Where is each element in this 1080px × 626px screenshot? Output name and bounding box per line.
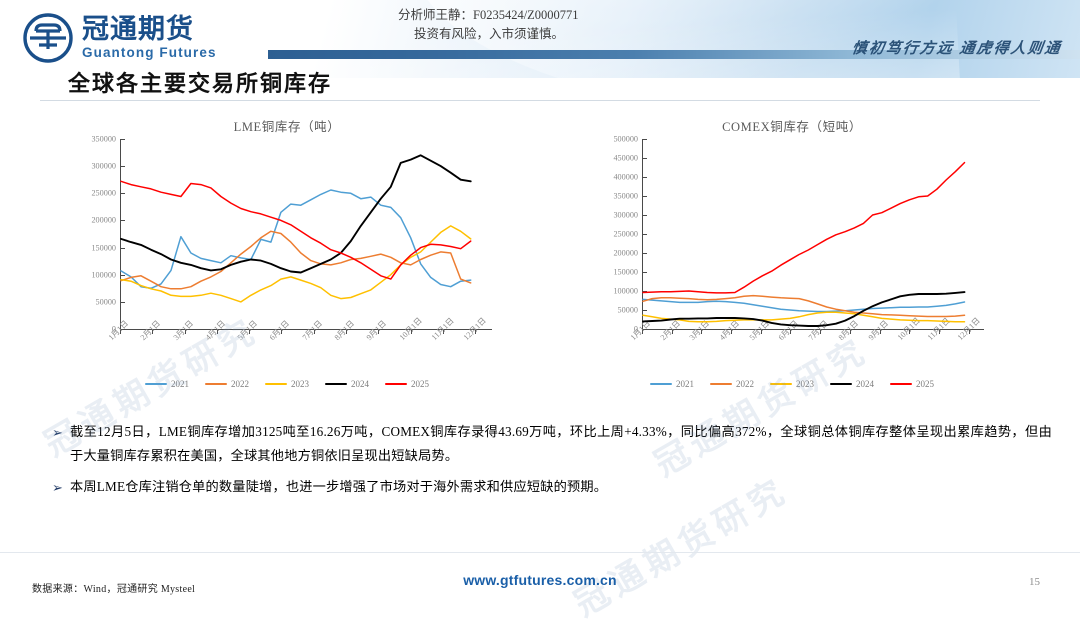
x-axis-labels: 1月1日2月1日3月1日4月1日5月1日6月1日7月1日8月1日9月1日10月1… (72, 335, 492, 375)
guantong-circle-logo-icon (22, 12, 74, 64)
title-divider (40, 100, 1040, 101)
legend-label-2023: 2023 (796, 379, 814, 389)
brand-slogan: 慎初笃行方远 通虎得人则通 (851, 37, 1064, 58)
slide-root: 冠通期货 Guantong Futures 分析师王静：F0235424/Z00… (0, 0, 1080, 608)
series-line-2021 (121, 190, 471, 288)
chart-lme-copper-inventory: LME铜库存（吨） 050000100000150000200000250000… (72, 116, 502, 389)
brand-logo: 冠通期货 Guantong Futures (22, 12, 217, 64)
series-line-2022 (643, 296, 965, 317)
legend-swatch-2025 (890, 383, 912, 385)
bullet-arrow-icon: ➢ (52, 475, 70, 500)
x-axis-labels: 1月1日2月1日3月1日4月1日5月1日6月1日7月1日8月1日9月1日10月1… (592, 335, 984, 375)
chart-series-layer (72, 139, 492, 331)
legend-swatch-2021 (145, 383, 167, 385)
legend-label-2024: 2024 (351, 379, 369, 389)
bullet-arrow-icon: ➢ (52, 420, 70, 445)
plot-area-comex: 0500001000001500002000002500003000003500… (592, 139, 984, 373)
legend-label-2024: 2024 (856, 379, 874, 389)
series-line-2021 (643, 299, 965, 311)
legend-swatch-2023 (770, 383, 792, 385)
bullet-text: 截至12月5日，LME铜库存增加3125吨至16.26万吨，COMEX铜库存录得… (70, 420, 1052, 469)
series-line-2023 (643, 312, 965, 322)
brand-name-cn: 冠通期货 (82, 16, 217, 43)
legend-swatch-2022 (710, 383, 732, 385)
legend-item-2021[interactable]: 2021 (650, 379, 694, 389)
brand-logo-text: 冠通期货 Guantong Futures (82, 16, 217, 60)
legend-swatch-2021 (650, 383, 672, 385)
legend-item-2022[interactable]: 2022 (710, 379, 754, 389)
legend-label-2022: 2022 (736, 379, 754, 389)
risk-disclaimer: 投资有风险，入市须谨慎。 (398, 25, 579, 44)
chart-series-layer (592, 139, 984, 331)
commentary-bullets: ➢ 截至12月5日，LME铜库存增加3125吨至16.26万吨，COMEX铜库存… (52, 420, 1052, 506)
legend-swatch-2022 (205, 383, 227, 385)
chart-comex-copper-inventory: COMEX铜库存（短吨） 050000100000150000200000250… (592, 116, 992, 389)
bullet-text: 本周LME仓库注销仓单的数量陡增，也进一步增强了市场对于海外需求和供应短缺的预期… (70, 475, 607, 499)
legend-swatch-2025 (385, 383, 407, 385)
legend-item-2022[interactable]: 2022 (205, 379, 249, 389)
chart-legend-lme: 20212022202320242025 (72, 379, 502, 389)
analyst-info: 分析师王静：F0235424/Z0000771 投资有风险，入市须谨慎。 (398, 6, 579, 45)
plot-area-lme: 0500001000001500002000002500003000003500… (72, 139, 492, 373)
legend-swatch-2024 (830, 383, 852, 385)
chart-legend-comex: 20212022202320242025 (592, 379, 992, 389)
page-title: 全球各主要交易所铜库存 (68, 66, 332, 98)
legend-swatch-2023 (265, 383, 287, 385)
bullet-item: ➢ 截至12月5日，LME铜库存增加3125吨至16.26万吨，COMEX铜库存… (52, 420, 1052, 469)
legend-label-2022: 2022 (231, 379, 249, 389)
footer-website-link[interactable]: www.gtfutures.com.cn (0, 572, 1080, 588)
chart-title-comex: COMEX铜库存（短吨） (592, 116, 992, 135)
analyst-credentials: 分析师王静：F0235424/Z0000771 (398, 6, 579, 25)
legend-item-2024[interactable]: 2024 (325, 379, 369, 389)
legend-item-2024[interactable]: 2024 (830, 379, 874, 389)
legend-label-2023: 2023 (291, 379, 309, 389)
legend-item-2025[interactable]: 2025 (890, 379, 934, 389)
brand-name-en: Guantong Futures (82, 46, 217, 60)
footer-divider (0, 552, 1080, 553)
legend-label-2021: 2021 (171, 379, 189, 389)
chart-title-lme: LME铜库存（吨） (72, 116, 502, 135)
legend-swatch-2024 (325, 383, 347, 385)
legend-item-2021[interactable]: 2021 (145, 379, 189, 389)
legend-label-2021: 2021 (676, 379, 694, 389)
legend-item-2023[interactable]: 2023 (770, 379, 814, 389)
legend-item-2025[interactable]: 2025 (385, 379, 429, 389)
series-line-2024 (121, 155, 471, 272)
series-line-2025 (643, 163, 965, 293)
bullet-item: ➢ 本周LME仓库注销仓单的数量陡增，也进一步增强了市场对于海外需求和供应短缺的… (52, 475, 1052, 500)
footer-page-number: 15 (1029, 576, 1040, 588)
legend-item-2023[interactable]: 2023 (265, 379, 309, 389)
legend-label-2025: 2025 (411, 379, 429, 389)
legend-label-2025: 2025 (916, 379, 934, 389)
